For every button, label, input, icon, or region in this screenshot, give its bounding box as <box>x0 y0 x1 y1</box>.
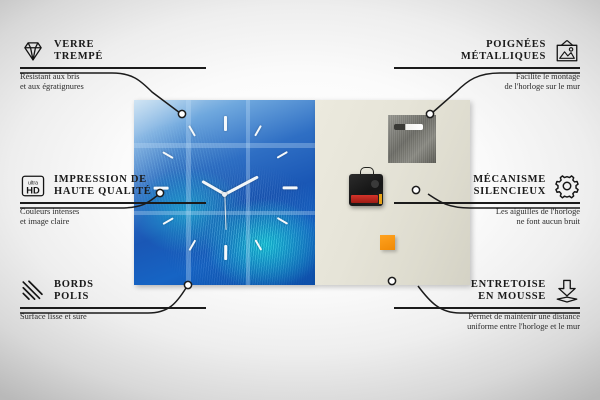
callout-subtitle: Les aiguilles de l'horloge ne font aucun… <box>394 204 580 228</box>
foam-spacer <box>380 235 395 250</box>
battery <box>351 195 378 203</box>
clock-hour-marker <box>282 186 297 189</box>
callout-bords-polis[interactable]: BORDS POLIS Surface lisse et sûre <box>20 278 206 322</box>
callout-header: ultra HD IMPRESSION DE HAUTE QUALITÉ <box>20 173 206 202</box>
face-grid-line <box>246 100 250 285</box>
gear-icon <box>554 173 580 199</box>
hanger-loop-icon <box>360 167 374 177</box>
diamond-icon <box>20 38 46 64</box>
infographic-canvas: VERRE TREMPÉ Résistant aux bris et aux é… <box>0 0 600 400</box>
clock-hour-marker <box>224 245 227 260</box>
callout-title: ENTRETOISE EN MOUSSE <box>471 279 546 304</box>
face-grid-line <box>134 143 315 148</box>
callout-header: BORDS POLIS <box>20 278 206 307</box>
callout-subtitle: Surface lisse et sûre <box>20 309 206 323</box>
callout-header: ENTRETOISE EN MOUSSE <box>394 278 580 307</box>
callout-subtitle: Permet de maintenir une distance uniform… <box>394 309 580 333</box>
callout-verre-trempe[interactable]: VERRE TREMPÉ Résistant aux bris et aux é… <box>20 38 206 93</box>
callout-header: MÉCANISME SILENCIEUX <box>394 173 580 202</box>
battery-terminal <box>379 194 382 204</box>
callout-mecanisme-silencieux[interactable]: MÉCANISME SILENCIEUX Les aiguilles de l'… <box>394 173 580 228</box>
clock-hour-marker <box>224 116 227 131</box>
plate-grain <box>388 115 436 163</box>
callout-subtitle: Couleurs intenses et image claire <box>20 204 206 228</box>
svg-text:HD: HD <box>26 185 40 195</box>
callout-title: MÉCANISME SILENCIEUX <box>473 174 546 199</box>
keyhole-slot <box>394 124 424 130</box>
clock-center-cap <box>222 192 227 197</box>
callout-subtitle: Résistant aux bris et aux égratignures <box>20 69 206 93</box>
callout-title: BORDS POLIS <box>54 279 94 304</box>
callout-poignees-metalliques[interactable]: POIGNÉES MÉTALLIQUES Facilite le montage… <box>394 38 580 93</box>
callout-impression-haute-qualite[interactable]: ultra HD IMPRESSION DE HAUTE QUALITÉ Cou… <box>20 173 206 228</box>
picture-frame-hanger-icon <box>554 38 580 64</box>
callout-header: POIGNÉES MÉTALLIQUES <box>394 38 580 67</box>
callout-title: IMPRESSION DE HAUTE QUALITÉ <box>54 174 152 199</box>
callout-subtitle: Facilite le montage de l'horloge sur le … <box>394 69 580 93</box>
clock-mechanism <box>349 174 383 206</box>
metal-hanger-plate <box>388 115 436 163</box>
foam-spacer-arrow-icon <box>554 278 580 304</box>
callout-header: VERRE TREMPÉ <box>20 38 206 67</box>
polished-edges-icon <box>20 278 46 304</box>
ultra-hd-icon: ultra HD <box>20 173 46 199</box>
callout-entretoise-en-mousse[interactable]: ENTRETOISE EN MOUSSE Permet de maintenir… <box>394 278 580 333</box>
mechanism-dial <box>371 180 379 188</box>
callout-title: VERRE TREMPÉ <box>54 39 103 64</box>
callout-title: POIGNÉES MÉTALLIQUES <box>461 39 546 64</box>
